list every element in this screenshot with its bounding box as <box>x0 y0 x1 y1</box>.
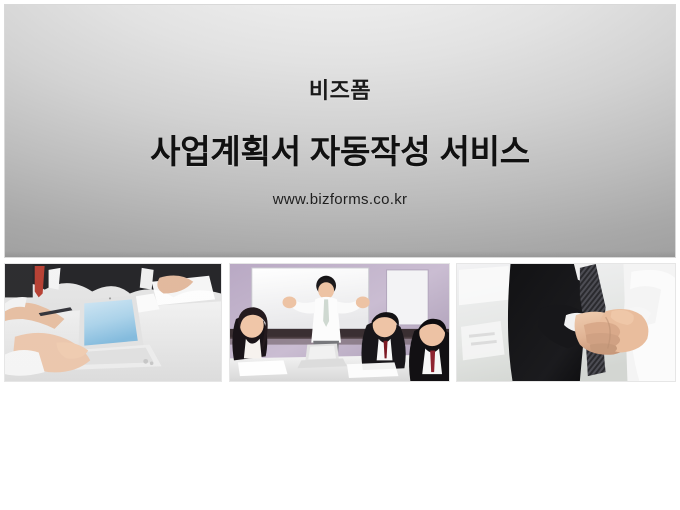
photo-presentation-image <box>230 264 449 381</box>
hero-gradient-panel: 비즈폼 사업계획서 자동작성 서비스 www.bizforms.co.kr <box>4 4 676 258</box>
photo-meeting-laptop <box>4 263 222 382</box>
slide-content-area <box>0 383 680 510</box>
photo-handshake <box>456 263 676 382</box>
site-url-text: www.bizforms.co.kr <box>5 191 675 209</box>
presentation-slide: 비즈폼 사업계획서 자동작성 서비스 www.bizforms.co.kr <box>0 0 680 510</box>
page-title: 사업계획서 자동작성 서비스 <box>5 133 675 171</box>
photo-strip <box>0 263 680 383</box>
photo-presentation <box>229 263 450 382</box>
photo-handshake-image <box>457 264 675 381</box>
brand-name: 비즈폼 <box>5 79 675 103</box>
photo-meeting-laptop-image <box>5 264 221 381</box>
hero-text-block: 비즈폼 사업계획서 자동작성 서비스 www.bizforms.co.kr <box>5 79 675 209</box>
